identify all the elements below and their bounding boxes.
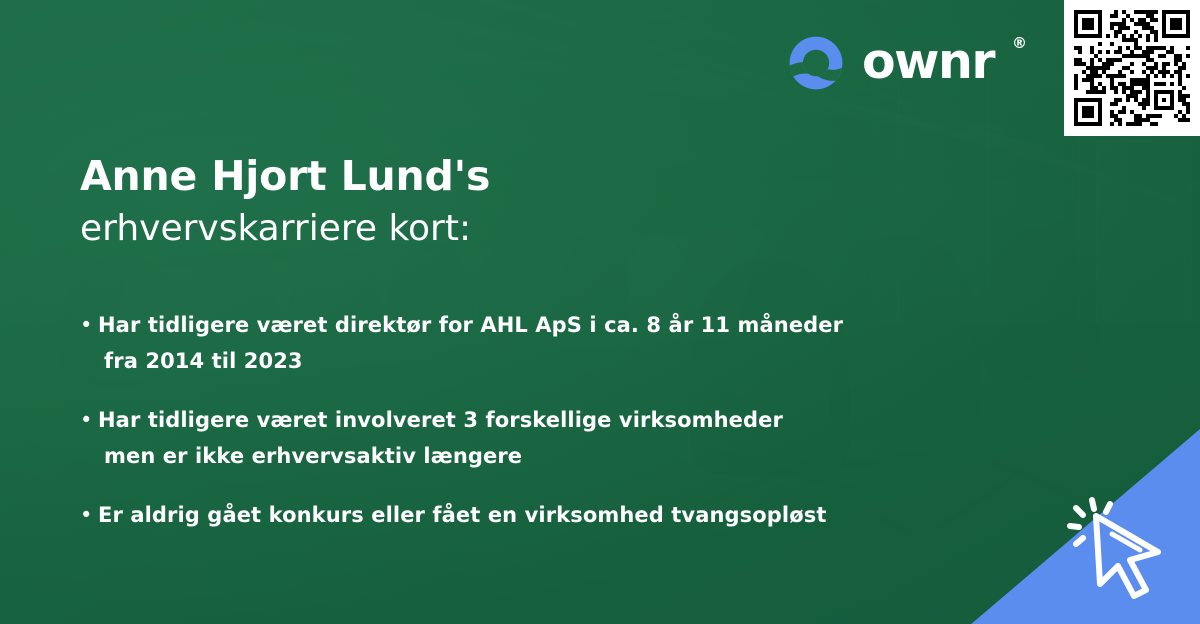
list-item-text: Er aldrig gået konkurs eller fået en vir… xyxy=(98,500,826,530)
page-title: Anne Hjort Lund's erhvervskarriere kort: xyxy=(80,152,940,253)
ownr-wordmark: ownr xyxy=(862,37,994,86)
list-item-subtext: fra 2014 til 2023 xyxy=(104,346,980,376)
bullet-dot-icon: • xyxy=(80,310,98,340)
list-item-text: Har tidligere været direktør for AHL ApS… xyxy=(98,310,843,340)
blue-corner-accent xyxy=(940,364,1200,624)
list-item-subtext: men er ikke erhvervsaktiv længere xyxy=(104,441,980,471)
list-item-text: Har tidligere været involveret 3 forskel… xyxy=(98,405,783,435)
career-card: Anne Hjort Lund's erhvervskarriere kort:… xyxy=(0,0,1200,624)
career-facts-list: • Har tidligere været direktør for AHL A… xyxy=(80,310,980,558)
title-line-2: erhvervskarriere kort: xyxy=(80,206,940,253)
bullet-dot-icon: • xyxy=(80,405,98,435)
list-item: • Har tidligere været direktør for AHL A… xyxy=(80,310,980,377)
ownr-swirl-icon xyxy=(786,33,846,93)
bullet-dot-icon: • xyxy=(80,500,98,530)
click-cursor-icon xyxy=(1062,490,1182,610)
list-item: • Har tidligere været involveret 3 forsk… xyxy=(80,405,980,472)
qr-code-canvas xyxy=(1074,10,1190,126)
title-line-1: Anne Hjort Lund's xyxy=(80,152,940,200)
qr-code[interactable] xyxy=(1064,0,1200,136)
registered-trademark-icon: ® xyxy=(1012,34,1027,52)
list-item: • Er aldrig gået konkurs eller fået en v… xyxy=(80,500,980,530)
ownr-logo[interactable]: ownr ® xyxy=(786,33,1025,93)
